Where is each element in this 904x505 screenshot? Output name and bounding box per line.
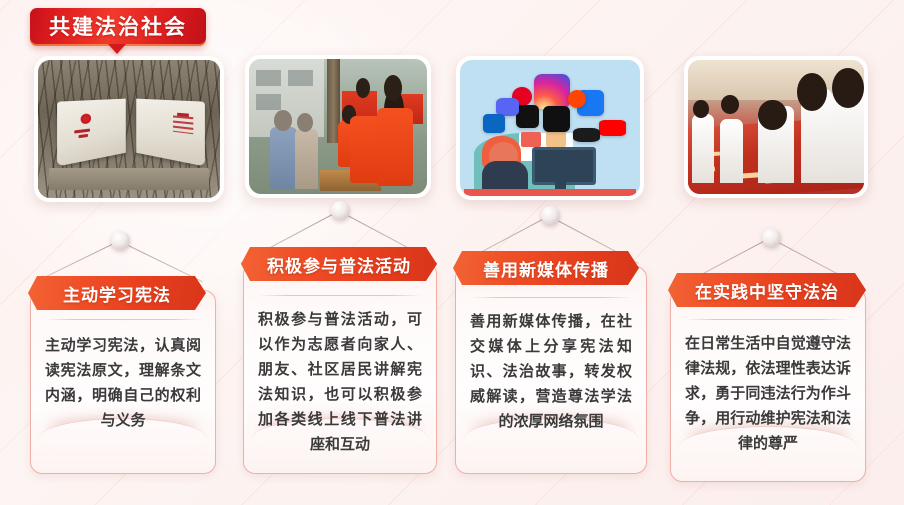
info-card-1: 主动学习宪法，认真阅读宪法原文，理解条文内涵，明确自己的权利与义务 (30, 290, 216, 474)
national-emblem-icon (80, 113, 91, 124)
volunteer-vest (377, 108, 413, 186)
hanging-knob (111, 231, 130, 250)
card-header-banner-2[interactable]: 积极参与普法活动 (241, 247, 437, 281)
infographic-stage: 共建法治社会 (0, 0, 904, 505)
hanging-knob (762, 228, 781, 247)
resident-figure (270, 127, 297, 189)
social-media-illustration (456, 56, 644, 200)
card-body-text: 积极参与普法活动，可以作为志愿者向家人、朋友、社区居民讲解宪法知识，也可以积极参… (258, 307, 422, 457)
linkedin-icon (483, 114, 505, 133)
hanging-knob (331, 201, 350, 220)
student-figure (720, 119, 743, 183)
card-header-text: 积极参与普法活动 (267, 252, 411, 277)
signature-pledge-photo (684, 56, 868, 198)
hanging-knob (541, 206, 560, 225)
youtube-icon (599, 120, 626, 136)
card-divider (258, 295, 422, 296)
info-card-4: 在日常生活中自觉遵守法律法规，依法理性表达诉求，勇于同违法行为作斗争，用行动维护… (670, 288, 866, 482)
card-header-banner-1[interactable]: 主动学习宪法 (28, 276, 206, 310)
constitution-monument-photo (34, 56, 224, 202)
student-figure (692, 114, 715, 184)
x-twitter-icon (516, 105, 539, 128)
card-body-text: 在日常生活中自觉遵守法律法规，依法理性表达诉求，勇于同违法行为作斗争，用行动维护… (685, 331, 851, 456)
legal-publicity-volunteers-photo (245, 55, 431, 198)
info-card-2: 积极参与普法活动，可以作为志愿者向家人、朋友、社区居民讲解宪法知识，也可以积极参… (243, 262, 437, 474)
card-header-text: 主动学习宪法 (63, 281, 171, 306)
video-camera-icon (573, 128, 600, 142)
volunteer-vest (350, 116, 380, 184)
desk (464, 189, 637, 196)
reddit-icon (568, 90, 586, 108)
discord-icon (496, 98, 519, 116)
info-card-3: 善用新媒体传播，在社交媒体上分享宪法知识、法治故事，转发权威解读，营造尊法学法的… (455, 266, 647, 474)
main-title-pointer (108, 44, 126, 54)
computer-monitor (532, 147, 596, 186)
instagram-icon (534, 74, 570, 109)
resident-figure (295, 129, 318, 188)
tiktok-icon (543, 106, 570, 132)
card-header-banner-4[interactable]: 在实践中坚守法治 (668, 273, 866, 307)
card-body-text: 善用新媒体传播，在社交媒体上分享宪法知识、法治故事，转发权威解读，营造尊法学法的… (470, 309, 632, 434)
monument-base (49, 168, 209, 190)
card-header-text: 在实践中坚守法治 (695, 278, 839, 303)
card-header-text: 善用新媒体传播 (483, 256, 609, 281)
card-body-text: 主动学习宪法，认真阅读宪法原文，理解条文内涵，明确自己的权利与义务 (45, 333, 201, 433)
card-divider (45, 319, 201, 320)
main-title-text: 共建法治社会 (49, 17, 187, 38)
card-divider (470, 297, 632, 298)
card-divider (685, 319, 851, 320)
card-header-banner-3[interactable]: 善用新媒体传播 (453, 251, 639, 285)
main-title-banner: 共建法治社会 (30, 8, 206, 46)
